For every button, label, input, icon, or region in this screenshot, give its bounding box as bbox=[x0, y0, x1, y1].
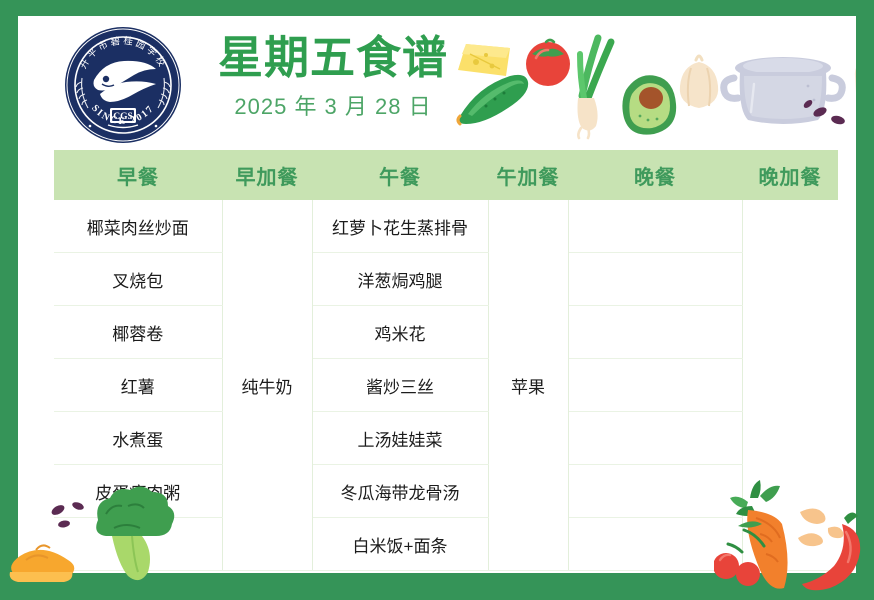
column-header-morning-snack: 早加餐 bbox=[222, 150, 312, 200]
cell-breakfast-2: 叉烧包 bbox=[54, 253, 222, 306]
menu-table: 早餐 早加餐 午餐 午加餐 晚餐 晚加餐 椰菜肉丝炒面 纯牛奶 红萝卜花生蒸排骨… bbox=[54, 150, 838, 571]
table-row: 白米饭+面条 bbox=[54, 518, 838, 571]
cell-dinner-2 bbox=[568, 253, 742, 306]
cell-dinner-3 bbox=[568, 306, 742, 359]
beans-icon bbox=[802, 98, 846, 125]
salt-shaker-icon bbox=[855, 57, 856, 116]
cell-breakfast-1: 椰菜肉丝炒面 bbox=[54, 200, 222, 253]
cell-lunch-3: 鸡米花 bbox=[312, 306, 488, 359]
poster-header: CGS 开平市碧桂园学校 SINCE 2017 星期五食谱 2025 年 3 月… bbox=[18, 16, 856, 150]
table-header-row: 早餐 早加餐 午餐 午加餐 晚餐 晚加餐 bbox=[54, 150, 838, 200]
top-food-illustrations bbox=[448, 24, 852, 146]
frame-right bbox=[856, 0, 874, 600]
cell-lunch-7: 白米饭+面条 bbox=[312, 518, 488, 571]
frame-bottom bbox=[0, 573, 874, 600]
table-row: 椰菜肉丝炒面 纯牛奶 红萝卜花生蒸排骨 苹果 bbox=[54, 200, 838, 253]
column-header-dinner: 晚餐 bbox=[568, 150, 742, 200]
cell-breakfast-7 bbox=[54, 518, 222, 571]
column-header-evening-snack: 晚加餐 bbox=[742, 150, 838, 200]
cell-morning-snack: 纯牛奶 bbox=[222, 200, 312, 571]
cell-lunch-4: 酱炒三丝 bbox=[312, 359, 488, 412]
cell-evening-snack bbox=[742, 200, 838, 571]
cell-dinner-7 bbox=[568, 518, 742, 571]
menu-table-wrap: 早餐 早加餐 午餐 午加餐 晚餐 晚加餐 椰菜肉丝炒面 纯牛奶 红萝卜花生蒸排骨… bbox=[54, 150, 838, 571]
avocado-icon bbox=[622, 75, 676, 134]
cell-breakfast-5: 水煮蛋 bbox=[54, 412, 222, 465]
column-header-afternoon-snack: 午加餐 bbox=[488, 150, 568, 200]
menu-date: 2025 年 3 月 28 日 bbox=[208, 89, 458, 121]
menu-table-body: 椰菜肉丝炒面 纯牛奶 红萝卜花生蒸排骨 苹果 叉烧包 洋葱焗鸡腿 椰蓉卷 bbox=[54, 200, 838, 571]
cell-breakfast-4: 红薯 bbox=[54, 359, 222, 412]
cell-lunch-6: 冬瓜海带龙骨汤 bbox=[312, 465, 488, 518]
recipe-poster: CGS 开平市碧桂园学校 SINCE 2017 星期五食谱 2025 年 3 月… bbox=[0, 0, 874, 600]
cell-lunch-5: 上汤娃娃菜 bbox=[312, 412, 488, 465]
cell-dinner-4 bbox=[568, 359, 742, 412]
cell-lunch-1: 红萝卜花生蒸排骨 bbox=[312, 200, 488, 253]
column-header-lunch: 午餐 bbox=[312, 150, 488, 200]
tomato-icon bbox=[526, 40, 570, 86]
cell-afternoon-snack: 苹果 bbox=[488, 200, 568, 571]
school-logo: CGS 开平市碧桂园学校 SINCE 2017 bbox=[60, 22, 186, 148]
frame-left bbox=[0, 0, 18, 600]
cell-dinner-6 bbox=[568, 465, 742, 518]
table-row: 叉烧包 洋葱焗鸡腿 bbox=[54, 253, 838, 306]
title-block: 星期五食谱 2025 年 3 月 28 日 bbox=[208, 34, 458, 121]
table-row: 皮蛋瘦肉粥 冬瓜海带龙骨汤 bbox=[54, 465, 838, 518]
green-onion-icon bbox=[578, 38, 612, 138]
table-row: 水煮蛋 上汤娃娃菜 bbox=[54, 412, 838, 465]
cell-dinner-1 bbox=[568, 200, 742, 253]
page-title: 星期五食谱 bbox=[208, 34, 458, 83]
white-card: CGS 开平市碧桂园学校 SINCE 2017 星期五食谱 2025 年 3 月… bbox=[18, 16, 856, 573]
top-food-illustrations-right bbox=[798, 24, 856, 146]
cell-dinner-5 bbox=[568, 412, 742, 465]
frame-top bbox=[0, 0, 874, 16]
cucumber-icon bbox=[458, 75, 528, 124]
table-row: 红薯 酱炒三丝 bbox=[54, 359, 838, 412]
cell-lunch-2: 洋葱焗鸡腿 bbox=[312, 253, 488, 306]
table-row: 椰蓉卷 鸡米花 bbox=[54, 306, 838, 359]
cell-breakfast-3: 椰蓉卷 bbox=[54, 306, 222, 359]
cheese-icon bbox=[458, 44, 510, 76]
column-header-breakfast: 早餐 bbox=[54, 150, 222, 200]
cell-breakfast-6: 皮蛋瘦肉粥 bbox=[54, 465, 222, 518]
